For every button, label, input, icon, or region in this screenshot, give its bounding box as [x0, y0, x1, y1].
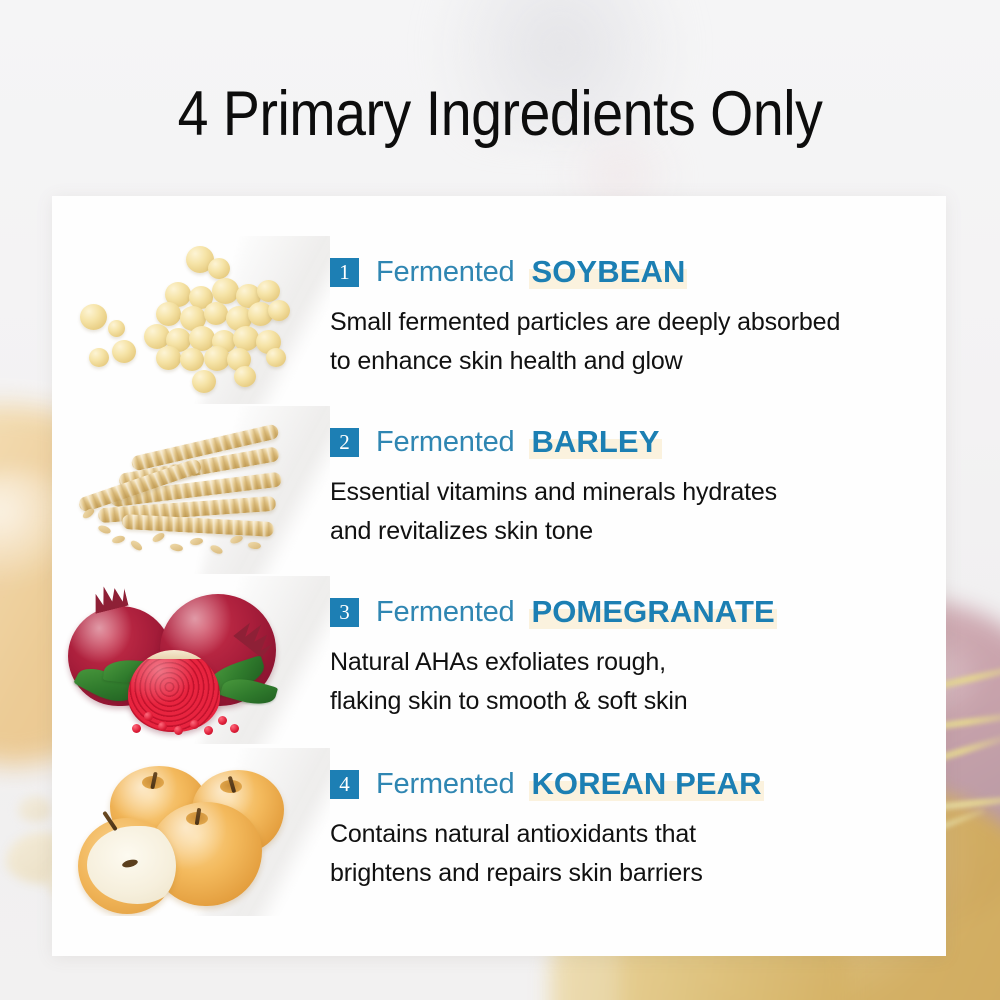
ingredient-text-korean-pear: 4 Fermented KOREAN PEAR Contains natural… [330, 748, 946, 894]
background-pebble [18, 796, 52, 822]
ingredient-text-pomegranate: 3 Fermented POMEGRANATE Natural AHAs exf… [330, 576, 946, 722]
ingredient-name: SOYBEAN [529, 254, 687, 290]
ingredient-heading: 4 Fermented KOREAN PEAR [330, 764, 946, 804]
ingredient-description-line1: Small fermented particles are deeply abs… [330, 303, 946, 342]
fermented-label: Fermented [376, 768, 514, 801]
ingredient-row-barley: 2 Fermented BARLEY Essential vitamins an… [52, 406, 946, 576]
ingredient-row-pomegranate: 3 Fermented POMEGRANATE Natural AHAs exf… [52, 576, 946, 746]
ingredient-name: POMEGRANATE [529, 594, 776, 630]
fermented-label: Fermented [376, 256, 514, 289]
page-title: 4 Primary Ingredients Only [60, 82, 940, 148]
ingredient-description-line2: and revitalizes skin tone [330, 512, 946, 551]
ingredient-heading: 1 Fermented SOYBEAN [330, 252, 946, 292]
ingredient-number-badge: 3 [330, 598, 359, 627]
barley-photo [52, 406, 330, 574]
ingredient-number-badge: 4 [330, 770, 359, 799]
ingredient-heading: 3 Fermented POMEGRANATE [330, 592, 946, 632]
fermented-label: Fermented [376, 596, 514, 629]
ingredient-text-barley: 2 Fermented BARLEY Essential vitamins an… [330, 406, 946, 552]
ingredient-name: KOREAN PEAR [529, 766, 763, 802]
ingredient-number-badge: 1 [330, 258, 359, 287]
ingredient-description-line2: flaking skin to smooth & soft skin [330, 682, 946, 721]
pomegranate-photo [52, 576, 330, 744]
ingredient-description-line1: Natural AHAs exfoliates rough, [330, 643, 946, 682]
ingredient-description-line1: Essential vitamins and minerals hydrates [330, 473, 946, 512]
ingredient-name: BARLEY [529, 424, 661, 460]
fermented-label: Fermented [376, 426, 514, 459]
ingredients-card: 1 Fermented SOYBEAN Small fermented part… [52, 196, 946, 956]
ingredient-heading: 2 Fermented BARLEY [330, 422, 946, 462]
ingredient-row-korean-pear: 4 Fermented KOREAN PEAR Contains natural… [52, 748, 946, 918]
ingredient-description-line2: brightens and repairs skin barriers [330, 854, 946, 893]
ingredient-number-badge: 2 [330, 428, 359, 457]
ingredient-row-soybean: 1 Fermented SOYBEAN Small fermented part… [52, 236, 946, 406]
ingredient-description-line1: Contains natural antioxidants that [330, 815, 946, 854]
korean-pear-photo [52, 748, 330, 916]
ingredient-text-soybean: 1 Fermented SOYBEAN Small fermented part… [330, 236, 946, 382]
soybeans-photo [52, 236, 330, 404]
ingredient-description-line2: to enhance skin health and glow [330, 342, 946, 381]
